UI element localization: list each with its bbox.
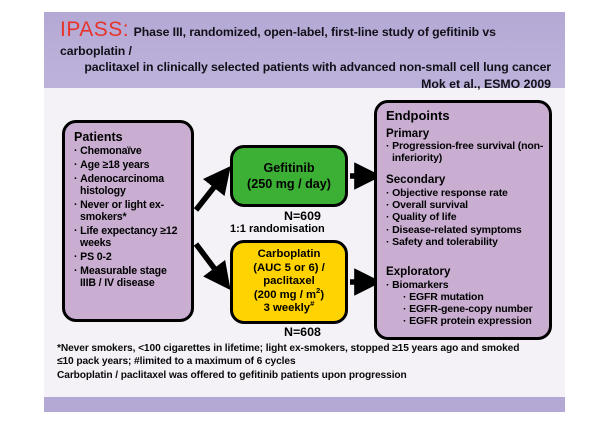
slide-footer-bar [44,397,565,412]
study-acronym: IPASS: [60,18,129,41]
title-second-line: paclitaxel in clinically selected patien… [60,60,551,75]
footnote-line-2: ≤10 pack years; #limited to a maximum of… [57,355,557,368]
list-item: Disease-related symptoms [386,224,545,236]
secondary-endpoints-list: Objective response rate Overall survival… [386,187,545,248]
carboplatin-schedule: 3 weekly# [264,302,315,316]
list-item: Overall survival [386,199,545,211]
gefitinib-name: Gefitinib [263,160,314,176]
footnote-line-1: *Never smokers, <100 cigarettes in lifet… [57,342,557,355]
list-item: EGFR mutation [403,291,545,303]
carboplatin-arm-box: Carboplatin (AUC 5 or 6) / paclitaxel (2… [230,240,348,324]
patients-heading: Patients [74,130,185,144]
list-item: Objective response rate [386,187,545,199]
patients-box: Patients Chemonaïve Age ≥18 years Adenoc… [62,120,194,322]
patients-criteria-list: Chemonaïve Age ≥18 years Adenocarcinoma … [74,145,185,289]
biomarkers-list: EGFR mutation EGFR-gene-copy number EGFR… [403,291,545,328]
title-citation: Mok et al., ESMO 2009 [60,77,551,92]
endpoints-box: Endpoints Primary Progression-free survi… [374,100,552,340]
endpoints-heading: Endpoints [386,109,545,124]
gefitinib-dose: (250 mg / day) [247,176,331,192]
carboplatin-dose-prefix: (200 mg / m [254,289,316,301]
carboplatin-n-label: N=608 [284,325,321,339]
carboplatin-paclitaxel: paclitaxel [263,275,315,289]
carboplatin-dose-suffix: ) [320,289,324,301]
list-item: Measurable stage IIIB / IV disease [74,265,185,290]
list-item: Adenocarcinoma histology [74,173,185,198]
primary-endpoints-list: Progression-free survival (non-inferiori… [386,140,545,165]
list-item: PS 0-2 [74,251,185,263]
list-item: Progression-free survival (non-inferiori… [386,140,545,165]
list-item: EGFR protein expression [403,315,545,327]
list-item: Quality of life [386,211,545,223]
carboplatin-schedule-text: 3 weekly [264,302,310,314]
carboplatin-auc: (AUC 5 or 6) / [253,262,325,276]
list-item: Age ≥18 years [74,159,185,171]
list-item: Chemonaïve [74,145,185,157]
randomisation-label: 1:1 randomisation [230,223,325,235]
slide-header-banner: IPASS: Phase III, randomized, open-label… [44,12,565,88]
gefitinib-arm-box: Gefitinib (250 mg / day) [230,145,348,207]
list-item: Biomarkers [386,279,545,291]
carboplatin-name: Carboplatin [258,248,321,262]
list-item: Life expectancy ≥12 weeks [74,225,185,250]
slide-canvas: IPASS: Phase III, randomized, open-label… [44,12,565,412]
primary-endpoints-heading: Primary [386,127,545,140]
exploratory-endpoints-list: Biomarkers [386,279,545,291]
secondary-endpoints-heading: Secondary [386,173,545,186]
spacer [386,248,545,263]
exploratory-endpoints-heading: Exploratory [386,265,545,278]
footnote-line-3: Carboplatin / paclitaxel was offered to … [57,369,557,382]
carboplatin-schedule-footnote-marker: # [310,300,314,309]
list-item: Safety and tolerability [386,236,545,248]
list-item: Never or light ex-smokers* [74,199,185,224]
spacer [386,164,545,171]
title-first-line: IPASS: Phase III, randomized, open-label… [60,19,551,59]
gefitinib-n-label: N=609 [284,209,321,223]
footnotes-block: *Never smokers, <100 cigarettes in lifet… [57,342,557,382]
list-item: EGFR-gene-copy number [403,303,545,315]
